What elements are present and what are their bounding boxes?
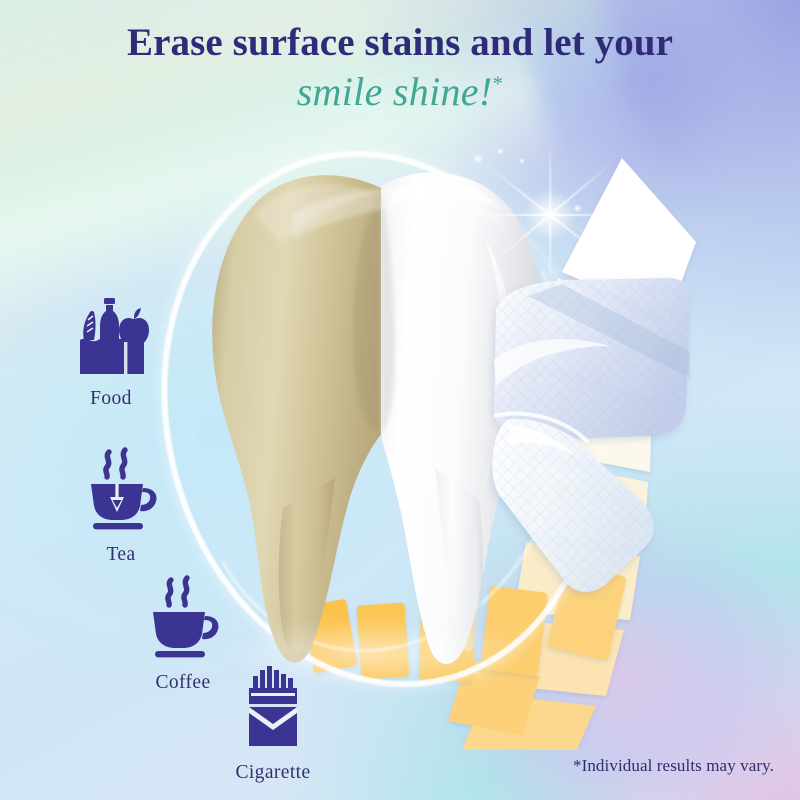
- stain-source-label: Food: [36, 388, 186, 410]
- whitening-strip: [470, 240, 700, 600]
- stain-source-label: Cigarette: [198, 762, 348, 784]
- stain-source-label: Tea: [46, 544, 196, 566]
- stain-source-cigarette[interactable]: Cigarette: [198, 664, 348, 784]
- whitening-strip-svg: [470, 240, 700, 600]
- headline-asterisk: *: [492, 72, 503, 96]
- teacup-icon: [79, 444, 163, 532]
- headline-secondary: smile shine!*: [297, 68, 504, 115]
- whitening-strip-tail: [492, 419, 654, 592]
- headline-primary: Erase surface stains and let your: [0, 22, 800, 64]
- stain-source-tea[interactable]: Tea: [46, 444, 196, 566]
- stain-source-food[interactable]: Food: [36, 288, 186, 410]
- footnote-disclaimer: *Individual results may vary.: [573, 756, 774, 776]
- headline-secondary-text: smile shine!: [297, 69, 493, 114]
- cigarette-pack-icon: [237, 664, 309, 750]
- grocery-bag-icon: [72, 288, 150, 376]
- headline-block: Erase surface stains and let your smile …: [0, 22, 800, 115]
- whitening-strips-ad: Erase surface stains and let your smile …: [0, 0, 800, 800]
- coffee-cup-icon: [141, 572, 225, 660]
